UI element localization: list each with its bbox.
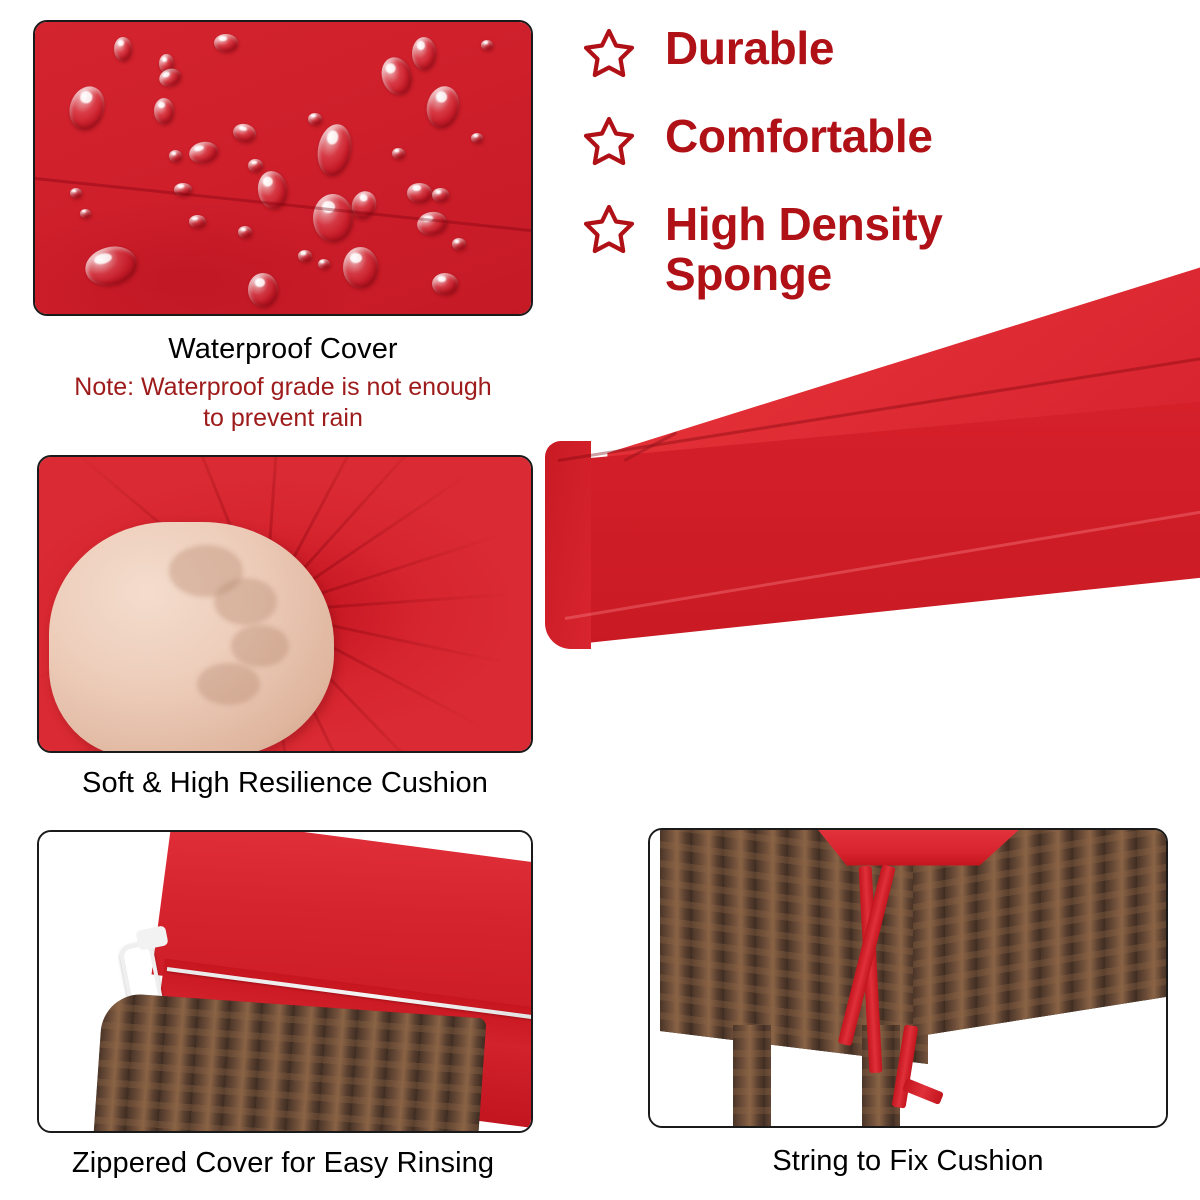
note-waterproof: Note: Waterproof grade is not enough to … — [63, 372, 503, 433]
star-icon — [583, 202, 639, 258]
fabric-tie-knot — [902, 1078, 944, 1105]
panel-resilience — [37, 455, 533, 753]
waterproof-fabric-image — [35, 22, 531, 314]
panel-zipper — [37, 830, 533, 1133]
hero-cushion-image — [548, 265, 1200, 665]
string-image — [650, 830, 1166, 1126]
wicker-leg — [733, 1025, 771, 1126]
caption-zipper: Zippered Cover for Easy Rinsing — [18, 1146, 548, 1180]
panel-waterproof — [33, 20, 533, 316]
feature-item-comfortable: Comfortable — [583, 112, 1183, 170]
feature-item-durable: Durable — [583, 24, 1183, 82]
caption-resilience: Soft & High Resilience Cushion — [20, 766, 550, 800]
caption-string: String to Fix Cushion — [648, 1144, 1168, 1178]
caption-waterproof: Waterproof Cover — [33, 332, 533, 366]
fist-shape — [49, 522, 334, 753]
star-icon — [583, 114, 639, 170]
fist-cushion-image — [39, 457, 531, 751]
feature-label: Durable — [665, 24, 834, 74]
panel-string — [648, 828, 1168, 1128]
star-icon — [583, 26, 639, 82]
zipper-image — [39, 832, 531, 1131]
feature-label: Comfortable — [665, 112, 933, 162]
